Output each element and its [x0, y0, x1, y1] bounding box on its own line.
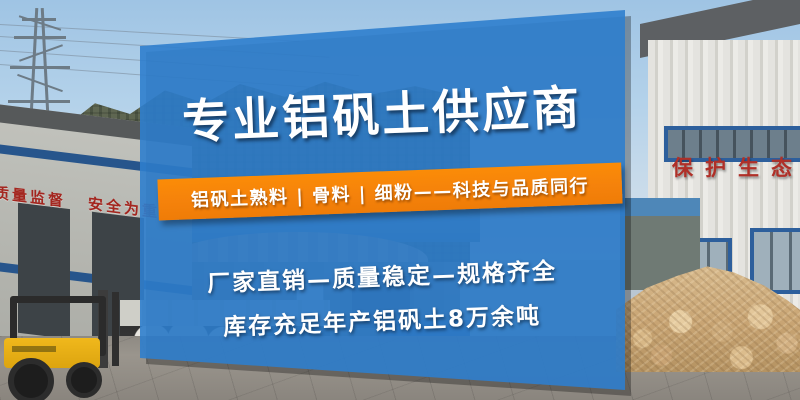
forklift-mast [112, 292, 119, 366]
tagline-ribbon: 铝矾土熟料 | 骨料 | 细粉——科技与品质同行 [157, 163, 622, 221]
forklift-wheel [66, 362, 102, 398]
forklift [2, 290, 130, 386]
promo-banner: 质量监督 安全为重 保护生态 专业铝矾土供应商 [0, 0, 800, 400]
right-building-sign: 保护生态 [672, 152, 800, 182]
headline: 专业铝矾土供应商 [135, 67, 629, 154]
banner-content: 专业铝矾土供应商 铝矾土熟料 | 骨料 | 细粉——科技与品质同行 厂家直销—质… [136, 0, 628, 400]
forklift-wheel [8, 358, 54, 400]
tagline-text: 铝矾土熟料 | 骨料 | 细粉——科技与品质同行 [191, 171, 590, 212]
subline-1: 厂家直销—质量稳定—规格齐全 [136, 249, 629, 301]
subline-2: 库存充足年产铝矾土8万余吨 [136, 293, 629, 345]
right-blue-roof-shed [620, 198, 700, 218]
